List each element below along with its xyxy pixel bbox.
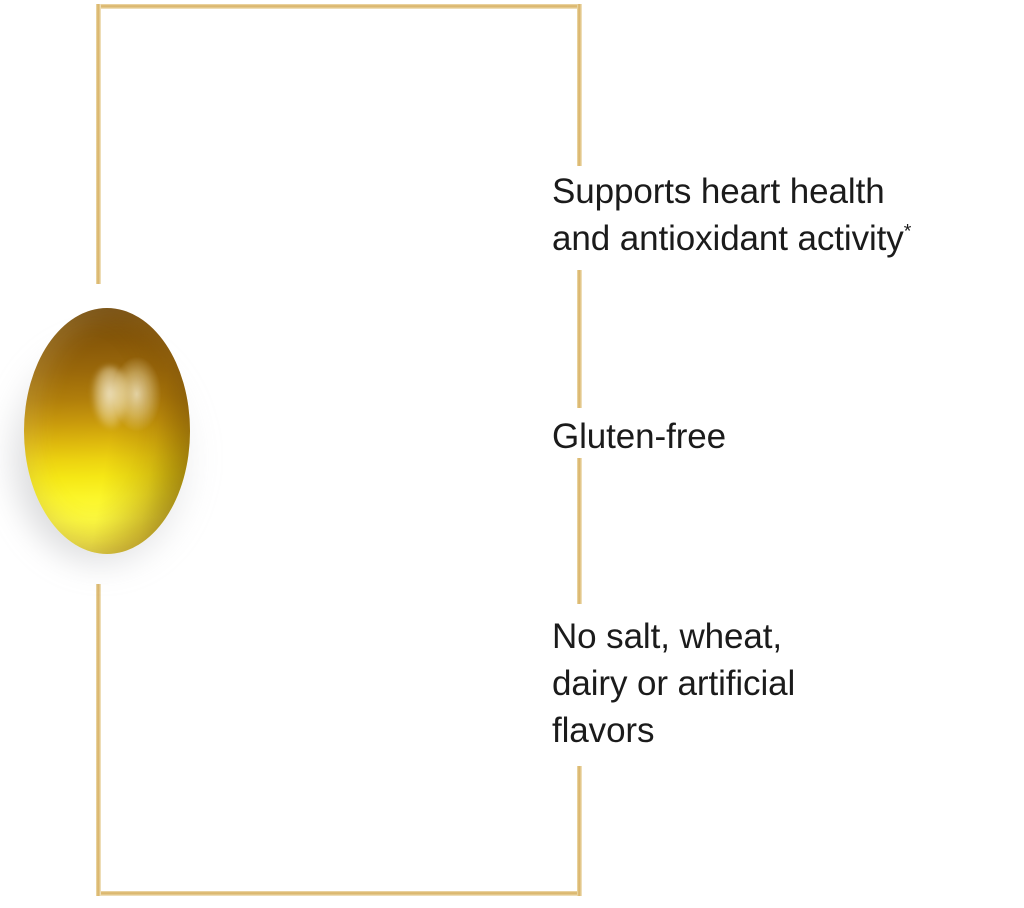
capsule-body bbox=[24, 308, 190, 554]
benefit-no-additives-text: No salt, wheat, dairy or artificial flav… bbox=[552, 617, 795, 750]
frame-bottom-border bbox=[96, 891, 582, 896]
footnote-asterisk: * bbox=[904, 220, 912, 242]
frame-right-border-seg-2 bbox=[577, 270, 582, 408]
softgel-capsule-image bbox=[0, 280, 240, 600]
frame-right-border-seg-1 bbox=[577, 4, 582, 166]
benefit-gluten-free: Gluten-free bbox=[552, 413, 726, 460]
benefit-heart-health: Supports heart health and antioxidant ac… bbox=[552, 168, 911, 262]
frame-top-border bbox=[96, 4, 582, 9]
benefit-heart-health-text: Supports heart health and antioxidant ac… bbox=[552, 172, 904, 258]
frame-right-border-seg-4 bbox=[577, 766, 582, 896]
frame-left-border-lower bbox=[96, 584, 101, 896]
benefit-no-additives: No salt, wheat, dairy or artificial flav… bbox=[552, 613, 795, 754]
product-benefits-panel: Supports heart health and antioxidant ac… bbox=[0, 0, 1024, 908]
frame-right-border-seg-3 bbox=[577, 458, 582, 604]
benefit-gluten-free-text: Gluten-free bbox=[552, 417, 726, 456]
frame-left-border-upper bbox=[96, 4, 101, 284]
